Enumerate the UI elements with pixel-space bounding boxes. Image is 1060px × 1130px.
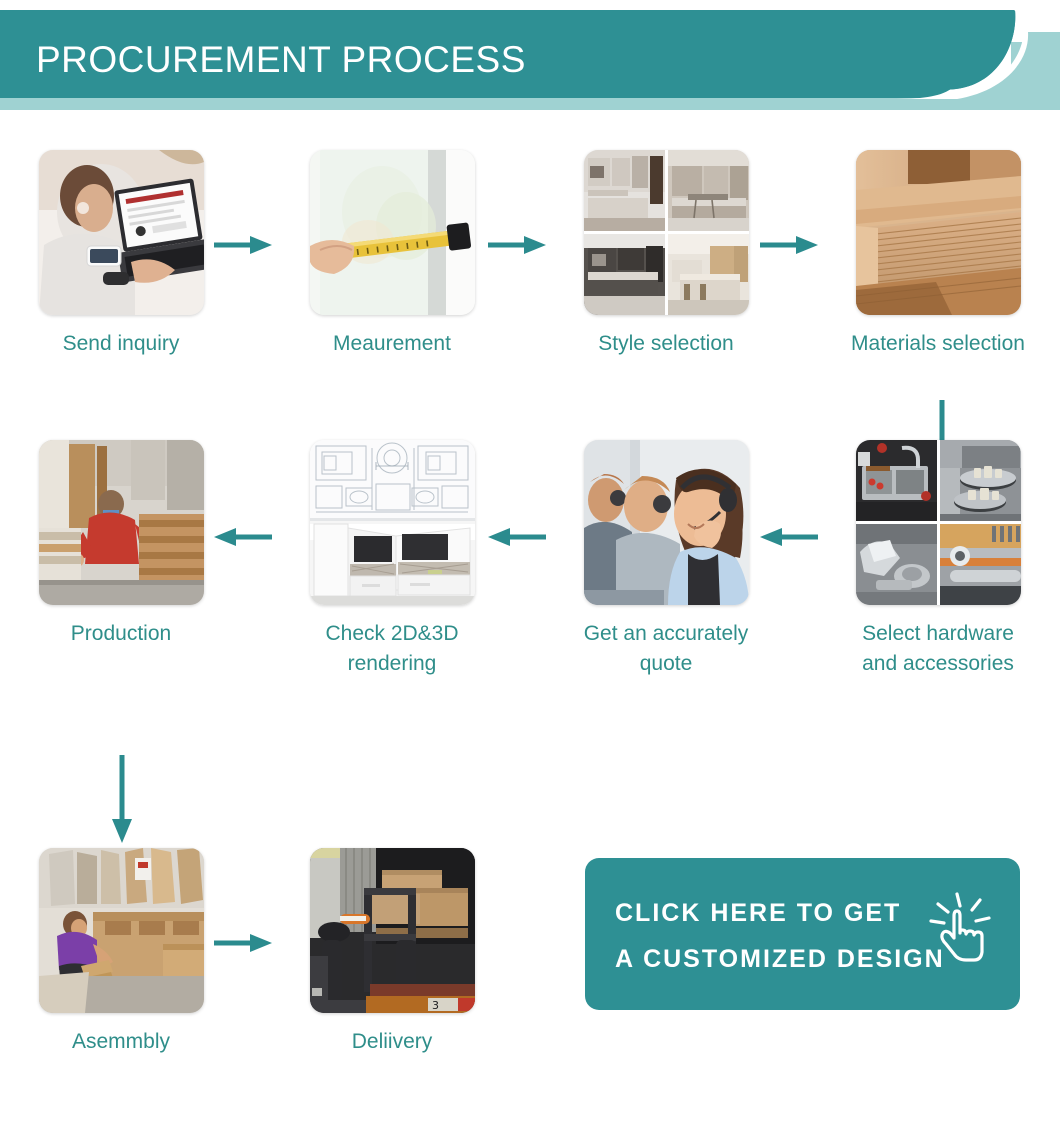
banner-curved-edge (890, 10, 1060, 100)
page-title: PROCUREMENT PROCESS (36, 39, 526, 81)
tape-measure-photo (310, 150, 475, 315)
step-delivery[interactable]: 3 Deliivery (267, 848, 517, 1057)
step-materials-selection[interactable]: Materials selection (813, 150, 1060, 359)
kitchen-styles-grid-photo (584, 150, 749, 315)
process-row-2: Production (0, 450, 1060, 790)
step-check-rendering[interactable]: Check 2D&3Drendering (267, 440, 517, 680)
step-caption: Materials selection (813, 329, 1060, 359)
factory-worker-photo (39, 440, 204, 605)
step-caption: Production (0, 619, 246, 649)
call-center-photo (584, 440, 749, 605)
step-caption: Get an accuratelyquote (541, 619, 791, 680)
floorplan-render-photo (310, 440, 475, 605)
step-measurement[interactable]: Meaurement (267, 150, 517, 359)
step-caption: Asemmbly (0, 1027, 246, 1057)
header-banner: PROCUREMENT PROCESS (0, 10, 1060, 110)
step-style-selection[interactable]: Style selection (541, 150, 791, 359)
step-get-quote[interactable]: Get an accuratelyquote (541, 440, 791, 680)
cta-button[interactable]: CLICK HERE TO GET A CUSTOMIZED DESIGN (585, 858, 1020, 1010)
hardware-grid-photo (856, 440, 1021, 605)
step-caption: Meaurement (267, 329, 517, 359)
step-caption: Select hardwareand accessories (813, 619, 1060, 680)
hand-click-icon (920, 890, 994, 964)
step-caption: Deliivery (267, 1027, 517, 1057)
arrow-rendering-to-production (214, 526, 272, 548)
plywood-stack-photo (856, 150, 1021, 315)
step-caption: Check 2D&3Drendering (267, 619, 517, 680)
step-assembly[interactable]: Asemmbly (0, 848, 246, 1057)
arrow-measurement-to-style (488, 234, 546, 256)
person-laptop-photo (39, 150, 204, 315)
forklift-container-photo: 3 (310, 848, 475, 1013)
svg-text:3: 3 (432, 999, 439, 1012)
step-production[interactable]: Production (0, 440, 246, 649)
step-select-hardware[interactable]: Select hardwareand accessories (813, 440, 1060, 680)
step-caption: Style selection (541, 329, 791, 359)
arrow-quote-to-rendering (488, 526, 546, 548)
arrow-hardware-to-quote (760, 526, 818, 548)
arrow-inquiry-to-measurement (214, 234, 272, 256)
arrow-assembly-to-delivery (214, 932, 272, 954)
step-caption: Send inquiry (0, 329, 246, 359)
arrow-style-to-materials (760, 234, 818, 256)
process-row-1: Send inquiry (0, 110, 1060, 450)
cabinet-assembly-photo (39, 848, 204, 1013)
step-send-inquiry[interactable]: Send inquiry (0, 150, 246, 359)
